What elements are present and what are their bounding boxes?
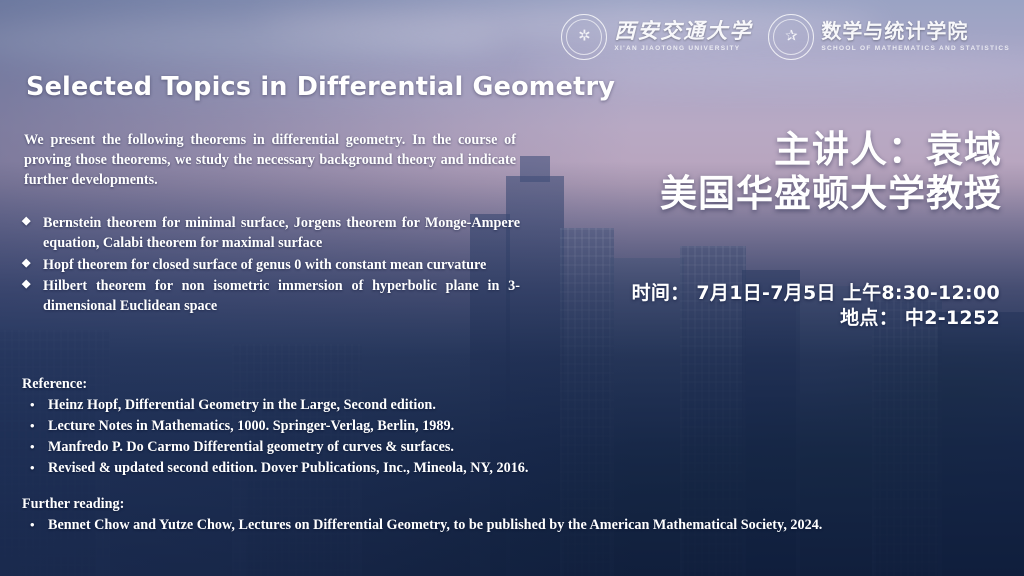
diamond-bullet-icon: ◆ <box>22 276 34 317</box>
university-seal-icon: ✲ <box>561 14 607 60</box>
list-item: • Heinz Hopf, Differential Geometry in t… <box>22 395 702 416</box>
page-title: Selected Topics in Differential Geometry <box>26 72 615 102</box>
theorem-text: Hopf theorem for closed surface of genus… <box>43 255 520 275</box>
schedule-time: 时间： 7月1日-7月5日 上午8:30-12:00 <box>570 281 1000 306</box>
dot-bullet-icon: • <box>30 437 38 458</box>
diamond-bullet-icon: ◆ <box>22 213 34 254</box>
seal-glyph: ✲ <box>562 30 606 45</box>
diamond-bullet-icon: ◆ <box>22 255 34 275</box>
reference-text: Manfredo P. Do Carmo Differential geomet… <box>48 437 454 458</box>
reference-section: Reference: • Heinz Hopf, Differential Ge… <box>22 374 702 479</box>
dot-bullet-icon: • <box>30 458 38 479</box>
reference-text: Lecture Notes in Mathematics, 1000. Spri… <box>48 416 454 437</box>
theorem-list: ◆ Bernstein theorem for minimal surface,… <box>22 213 520 317</box>
logo-xjtu-name-cn: 西安交通大学 <box>614 21 752 42</box>
logo-xjtu: ✲ 西安交通大学 XI'AN JIAOTONG UNIVERSITY <box>561 14 752 60</box>
schedule-place: 地点： 中2-1252 <box>570 306 1000 331</box>
reference-text: Revised & updated second edition. Dover … <box>48 458 528 479</box>
logo-school-name-en: SCHOOL OF MATHEMATICS AND STATISTICS <box>821 46 1010 53</box>
dot-bullet-icon: • <box>30 515 38 536</box>
list-item: ◆ Hilbert theorem for non isometric imme… <box>22 276 520 317</box>
list-item: • Bennet Chow and Yutze Chow, Lectures o… <box>22 515 950 536</box>
list-item: • Manfredo P. Do Carmo Differential geom… <box>22 437 702 458</box>
speaker-block: 主讲人：袁域 美国华盛顿大学教授 <box>582 128 1002 215</box>
logo-school-name-cn: 数学与统计学院 <box>821 22 1010 42</box>
further-reading-heading: Further reading: <box>22 494 950 515</box>
seal-glyph: ✰ <box>769 30 813 45</box>
lecture-poster: ✲ 西安交通大学 XI'AN JIAOTONG UNIVERSITY ✰ 数学与… <box>0 0 1024 576</box>
reference-heading: Reference: <box>22 374 702 395</box>
further-reading-text: Bennet Chow and Yutze Chow, Lectures on … <box>48 515 822 536</box>
reference-text: Heinz Hopf, Differential Geometry in the… <box>48 395 436 416</box>
logo-school-of-math: ✰ 数学与统计学院 SCHOOL OF MATHEMATICS AND STAT… <box>768 14 1010 60</box>
speaker-name-line: 主讲人：袁域 <box>582 128 1002 172</box>
list-item: • Lecture Notes in Mathematics, 1000. Sp… <box>22 416 702 437</box>
logo-school-text: 数学与统计学院 SCHOOL OF MATHEMATICS AND STATIS… <box>821 22 1010 53</box>
dot-bullet-icon: • <box>30 395 38 416</box>
speaker-affiliation-line: 美国华盛顿大学教授 <box>582 172 1002 216</box>
theorem-text: Bernstein theorem for minimal surface, J… <box>43 213 520 254</box>
logo-xjtu-name-en: XI'AN JIAOTONG UNIVERSITY <box>614 46 752 53</box>
logo-xjtu-text: 西安交通大学 XI'AN JIAOTONG UNIVERSITY <box>614 21 752 53</box>
theorem-text: Hilbert theorem for non isometric immers… <box>43 276 520 317</box>
logo-bar: ✲ 西安交通大学 XI'AN JIAOTONG UNIVERSITY ✰ 数学与… <box>561 14 1010 60</box>
abstract-paragraph: We present the following theorems in dif… <box>24 130 516 190</box>
school-seal-icon: ✰ <box>768 14 814 60</box>
schedule-block: 时间： 7月1日-7月5日 上午8:30-12:00 地点： 中2-1252 <box>570 281 1000 331</box>
list-item: ◆ Hopf theorem for closed surface of gen… <box>22 255 520 275</box>
list-item: ◆ Bernstein theorem for minimal surface,… <box>22 213 520 254</box>
further-reading-section: Further reading: • Bennet Chow and Yutze… <box>22 494 950 535</box>
list-item: • Revised & updated second edition. Dove… <box>22 458 702 479</box>
dot-bullet-icon: • <box>30 416 38 437</box>
